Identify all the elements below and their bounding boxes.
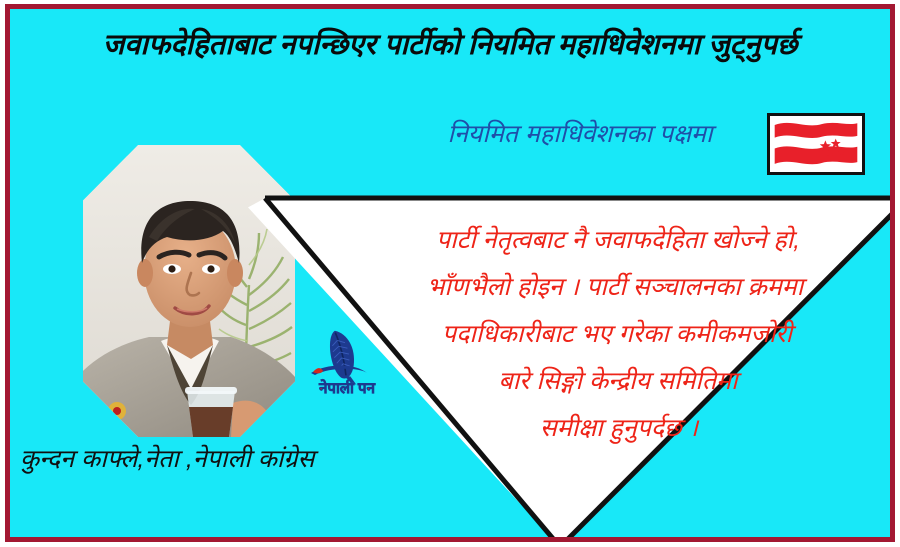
quote-line-5: समीक्षा हुनुपर्दछ ।: [360, 405, 878, 452]
poster-canvas: जवाफदेहिताबाट नपन्छिएर पार्टीको नियमित म…: [10, 9, 890, 537]
quote-line-4: बारे सिङ्गो केन्द्रीय समितिमा: [358, 358, 878, 405]
quote-line-1: पार्टी नेतृत्वबाट नै जवाफदेहिता खोज्ने ह…: [358, 217, 878, 264]
quote-line-2: भाँणभैलो होइन । पार्टी सञ्चालनका क्रममा: [352, 264, 878, 311]
nepali-congress-flag-icon: [767, 113, 865, 175]
quote-text: पार्टी नेतृत्वबाट नै जवाफदेहिता खोज्ने ह…: [358, 217, 878, 452]
watermark-logo: नेपाली पन: [293, 325, 401, 397]
quill-pen-icon: नेपाली पन: [293, 325, 401, 397]
flag-graphic: [770, 116, 862, 172]
subtitle-text: नियमित महाधिवेशनका पक्षमा: [405, 116, 755, 150]
quote-line-3: पदाधिकारीबाट भए गरेका कमीकमजोरी: [356, 311, 878, 358]
poster-root: जवाफदेहिताबाट नपन्छिएर पार्टीको नियमित म…: [0, 0, 900, 547]
page-title: जवाफदेहिताबाट नपन्छिएर पार्टीको नियमित म…: [10, 30, 890, 62]
watermark-brand-text: नेपाली पन: [318, 379, 375, 397]
